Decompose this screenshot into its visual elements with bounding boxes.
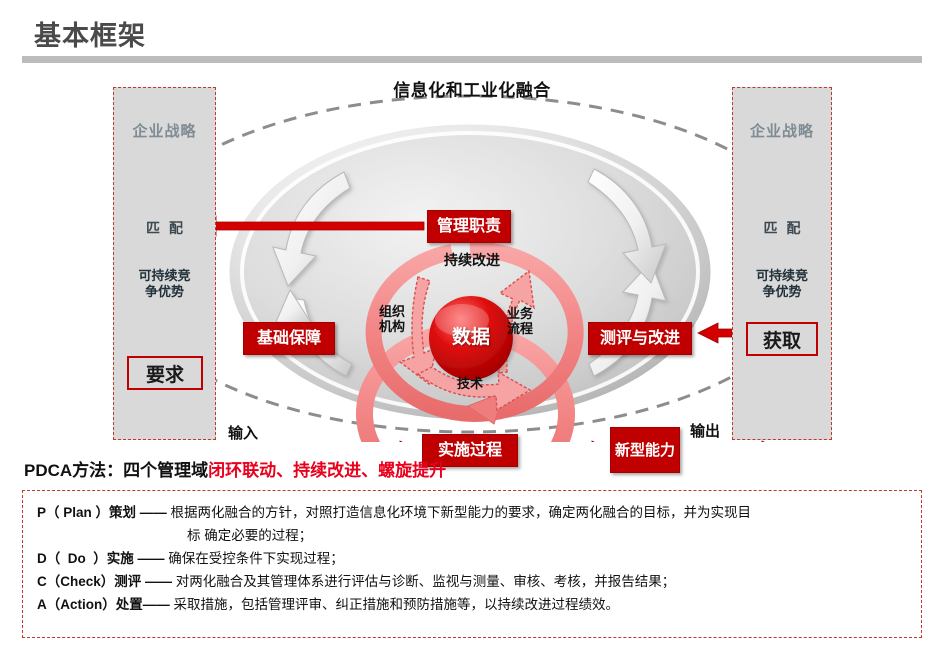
data-core-label: 数据 — [429, 322, 513, 349]
requirement-box[interactable]: 要求 — [127, 356, 203, 390]
new-capability-line1: 新型 — [615, 442, 645, 459]
slide-page: 基本框架 — [0, 0, 944, 657]
pdca-plan-dash: —— — [136, 503, 171, 523]
pdca-action-value: 采取措施，包括管理评审、纠正措施和预防措施等，以持续改进过程绩效。 — [174, 595, 907, 615]
pdca-row-do: D（ Do ）实施 —— 确保在受控条件下实现过程； — [37, 549, 907, 569]
business-line1: 业务 — [507, 306, 533, 321]
pdca-row-plan: P（ Plan ）策划 —— 根据两化融合的方针，对照打造信息化环境下新型能力的… — [37, 503, 907, 523]
pdca-heading-black: PDCA方法：四个管理域 — [24, 461, 208, 480]
pdca-row-check: C（Check）测评 —— 对两化融合及其管理体系进行评估与诊断、监视与测量、审… — [37, 572, 907, 592]
pdca-heading-red: 闭环联动、持续改进、螺旋提升 — [208, 461, 446, 480]
pdca-plan-continuation: 标 确定必要的过程； — [37, 526, 907, 546]
right-panel-advantage-label: 可持续竞 争优势 — [733, 268, 831, 300]
title-divider — [22, 56, 922, 63]
left-panel-match-label: 匹配 — [114, 218, 215, 238]
organization-line1: 组织 — [379, 304, 405, 319]
left-panel-advantage-label: 可持续竞 争优势 — [114, 268, 215, 300]
acquire-box[interactable]: 获取 — [746, 322, 818, 356]
right-panel-match-label: 匹配 — [733, 218, 831, 238]
right-panel-advantage-line1: 可持续竞 — [756, 268, 808, 283]
evaluation-improvement-box[interactable]: 测评与改进 — [588, 322, 692, 355]
continuous-improvement-label: 持续改进 — [427, 250, 517, 270]
management-responsibility-box[interactable]: 管理职责 — [427, 210, 511, 243]
left-panel-advantage-line1: 可持续竞 — [138, 268, 190, 283]
pdca-plan-value: 根据两化融合的方针，对照打造信息化环境下新型能力的要求，确定两化融合的目标，并为… — [171, 503, 907, 523]
pdca-detail-box: P（ Plan ）策划 —— 根据两化融合的方针，对照打造信息化环境下新型能力的… — [22, 490, 922, 638]
pdca-plan-key: P（ Plan ）策划 — [37, 503, 136, 523]
pdca-do-key: D（ Do ）实施 — [37, 549, 134, 569]
left-panel-strategy-label: 企业战略 — [114, 120, 215, 141]
pdca-row-action: A（Action）处置 —— 采取措施，包括管理评审、纠正措施和预防措施等，以持… — [37, 595, 907, 615]
output-label: 输出 — [690, 420, 720, 441]
right-panel-strategy-label: 企业战略 — [733, 120, 831, 141]
pdca-check-key: C（Check）测评 — [37, 572, 141, 592]
pdca-check-value: 对两化融合及其管理体系进行评估与诊断、监视与测量、审核、考核，并报告结果； — [176, 572, 907, 592]
left-panel-advantage-line2: 争优势 — [145, 284, 184, 299]
input-label: 输入 — [228, 422, 258, 443]
technology-label: 技术 — [448, 373, 492, 392]
diagram-stage: 信息化和工业化融合 企业战略 匹配 可持续竞 争优势 企业战略 匹配 可持续竞 … — [0, 72, 944, 442]
new-capability-line2: 能力 — [645, 442, 675, 459]
foundation-support-box[interactable]: 基础保障 — [243, 322, 335, 355]
right-strategy-panel: 企业战略 匹配 可持续竞 争优势 — [732, 87, 832, 440]
organization-line2: 机构 — [379, 319, 405, 334]
pdca-do-dash: —— — [134, 549, 169, 569]
page-title: 基本框架 — [34, 14, 146, 53]
pdca-heading: PDCA方法：四个管理域闭环联动、持续改进、螺旋提升 — [24, 456, 446, 481]
pdca-action-key: A（Action）处置 — [37, 595, 143, 615]
pdca-do-value: 确保在受控条件下实现过程； — [168, 549, 907, 569]
new-capability-box[interactable]: 新型 能力 — [610, 427, 680, 473]
pdca-action-dash: —— — [143, 595, 174, 615]
right-panel-advantage-line2: 争优势 — [762, 284, 801, 299]
organization-label: 组织 机构 — [372, 304, 412, 334]
pdca-check-dash: —— — [141, 572, 176, 592]
